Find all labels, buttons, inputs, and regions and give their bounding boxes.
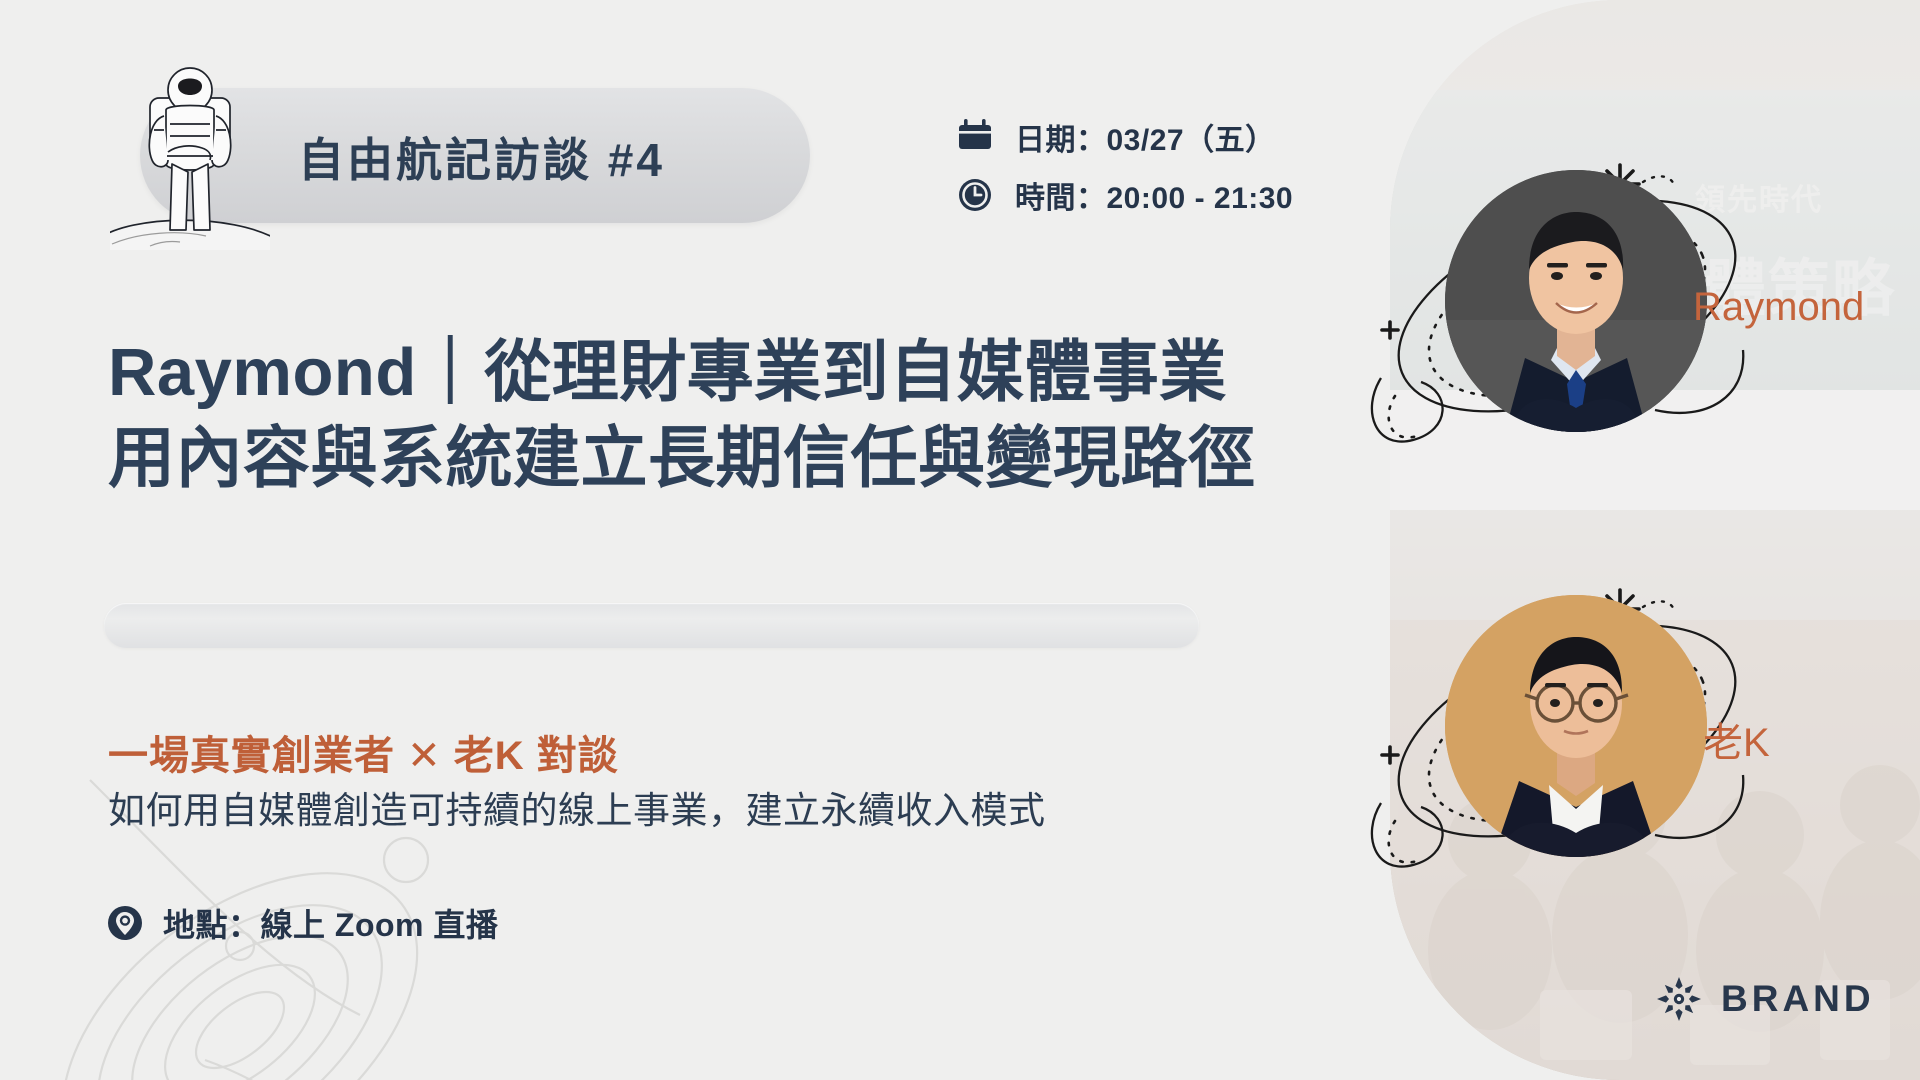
avatar-raymond: [1445, 170, 1707, 432]
place-row: 地點：線上 Zoom 直播: [105, 900, 498, 946]
meta-time-text: 時間：20:00 - 21:30: [1015, 173, 1293, 217]
meta-row-time: 時間：20:00 - 21:30: [955, 166, 1293, 224]
speaker-laok: 老K: [1355, 535, 1775, 955]
calendar-icon: [955, 117, 995, 157]
location-pin-icon: [105, 903, 145, 943]
meta-date-text: 日期：03/27（五）: [1015, 115, 1276, 159]
speaker-raymond: Raymond: [1355, 110, 1775, 530]
subheadline-accent: 一場真實創業者 ✕ 老K 對談: [108, 723, 619, 781]
headline-line-2: 用內容與系統建立長期信任與變現路徑: [108, 416, 1378, 502]
avatar-laok: [1445, 595, 1707, 857]
main-headline: Raymond｜從理財專業到自媒體事業 用內容與系統建立長期信任與變現路徑: [108, 330, 1378, 502]
headline-line-1: Raymond｜從理財專業到自媒體事業: [108, 330, 1378, 416]
clock-icon: [955, 175, 995, 215]
brand-name: BRAND: [1721, 978, 1875, 1020]
event-meta: 日期：03/27（五） 時間：20:00 - 21:30: [955, 108, 1293, 224]
divider-pill: [104, 603, 1199, 648]
subheadline-body: 如何用自媒體創造可持續的線上事業，建立永續收入模式: [108, 780, 1046, 834]
poster-canvas: 領先時代 媒體策略: [0, 0, 1920, 1080]
brand-asterisk-snowflake-icon: [1655, 975, 1703, 1023]
meta-row-date: 日期：03/27（五）: [955, 108, 1293, 166]
brand-logo: BRAND: [1655, 975, 1875, 1023]
raymond-portrait: [1445, 170, 1707, 432]
laok-portrait: [1445, 595, 1707, 857]
speaker-name-raymond: Raymond: [1693, 285, 1864, 330]
place-text: 地點：線上 Zoom 直播: [163, 900, 498, 946]
episode-badge-label: 自由航記訪談 #4: [298, 124, 665, 190]
astronaut-icon: [110, 60, 270, 250]
speaker-name-laok: 老K: [1703, 710, 1770, 768]
